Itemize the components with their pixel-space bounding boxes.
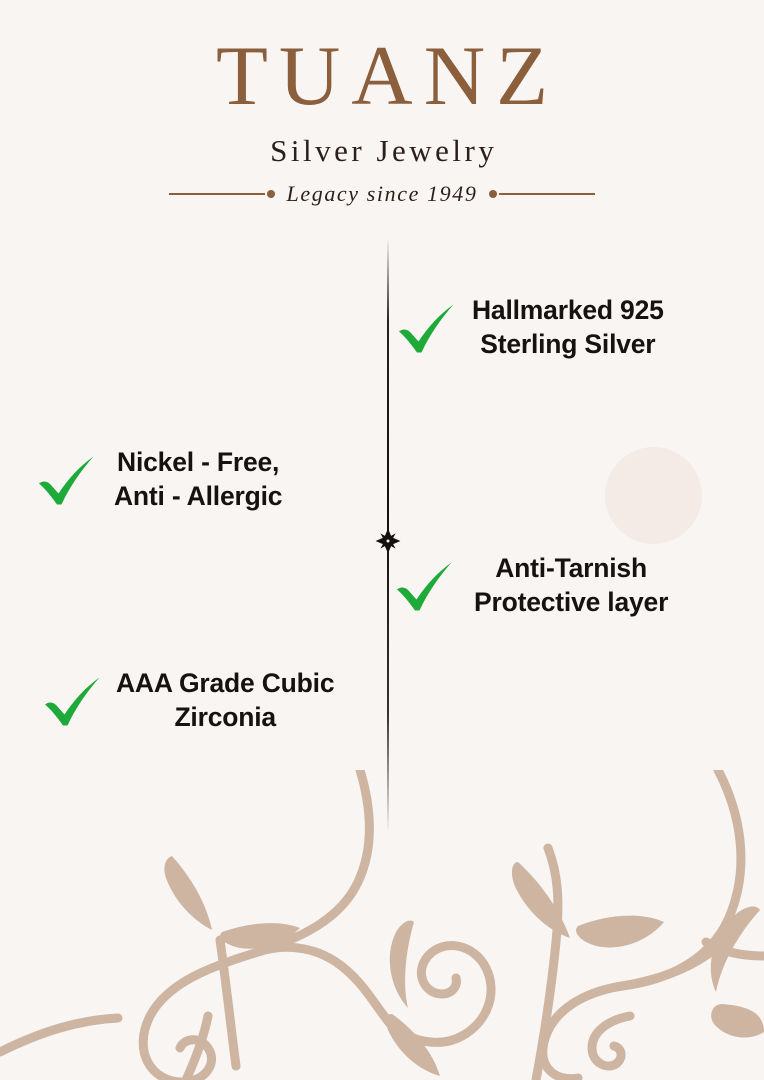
feature-item-tarnish: Anti-Tarnish Protective layer: [394, 552, 668, 620]
brand-tagline: Legacy since 1949: [277, 181, 488, 207]
brand-tagline-row: Legacy since 1949: [0, 181, 764, 207]
feature-item-hallmark: Hallmarked 925 Sterling Silver: [396, 294, 664, 362]
feature-label: Hallmarked 925 Sterling Silver: [472, 294, 664, 362]
feature-item-zirconia: AAA Grade Cubic Zirconia: [42, 667, 334, 735]
check-icon: [394, 558, 456, 614]
feature-item-nickel: Nickel - Free, Anti - Allergic: [36, 446, 282, 514]
brand-name: TUANZ: [0, 34, 764, 119]
check-icon: [42, 673, 104, 729]
feature-label: Nickel - Free, Anti - Allergic: [114, 446, 282, 514]
poster-canvas: TUANZ Silver Jewelry Legacy since 1949: [0, 0, 764, 1080]
check-icon: [396, 300, 458, 356]
tagline-dot-left-icon: [267, 190, 275, 198]
decorative-circle: [605, 447, 702, 544]
brand-header: TUANZ Silver Jewelry Legacy since 1949: [0, 34, 764, 207]
floral-vine-ornament-icon: [0, 770, 764, 1080]
brand-subtitle: Silver Jewelry: [0, 133, 764, 169]
feature-label: Anti-Tarnish Protective layer: [474, 552, 668, 620]
tagline-dot-right-icon: [489, 190, 497, 198]
feature-label: AAA Grade Cubic Zirconia: [116, 667, 334, 735]
tagline-rule-right: [499, 193, 595, 194]
check-icon: [36, 452, 98, 508]
tagline-rule-left: [169, 193, 265, 194]
